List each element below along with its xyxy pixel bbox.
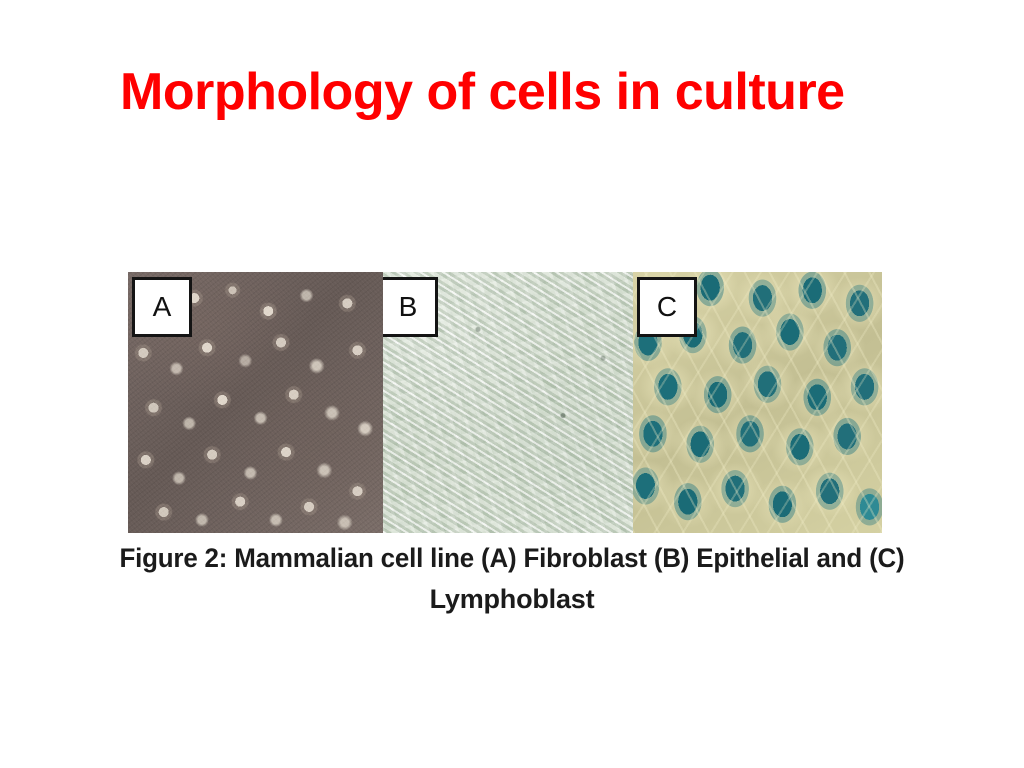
micrograph-strip: A B C — [128, 272, 882, 533]
panel-label-c: C — [637, 277, 697, 337]
panel-label-b: B — [383, 277, 438, 337]
panel-label-a: A — [132, 277, 192, 337]
figure-caption: Figure 2: Mammalian cell line (A) Fibrob… — [0, 538, 1024, 620]
micrograph-panel-b: B — [383, 272, 633, 533]
figure-caption-line-2: Lymphoblast — [0, 579, 1024, 620]
figure-block: A B C — [128, 272, 882, 533]
micrograph-panel-c: C — [633, 272, 882, 533]
micrograph-panel-a: A — [128, 272, 383, 533]
page-title: Morphology of cells in culture — [120, 60, 904, 124]
figure-caption-line-1: Figure 2: Mammalian cell line (A) Fibrob… — [20, 538, 1003, 579]
